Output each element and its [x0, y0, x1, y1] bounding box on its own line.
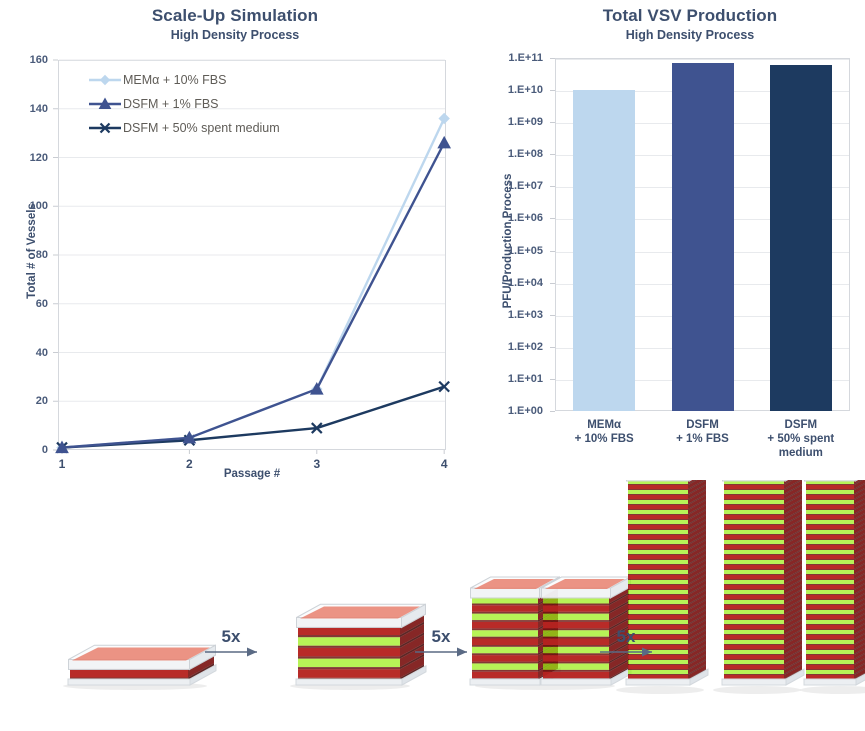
bar-chart-y-tick-mark — [550, 218, 555, 219]
line-chart-y-tick: 60 — [0, 298, 48, 310]
line-chart-x-axis-title: Passage # — [58, 468, 446, 480]
diamond-marker-icon — [88, 72, 122, 88]
legend-item: DSFM + 1% FBS — [88, 92, 280, 116]
bar-chart-y-tick: 1.E+05 — [470, 245, 543, 257]
bar-chart-y-tick-mark — [550, 283, 555, 284]
bar-chart-y-tick: 1.E+08 — [470, 148, 543, 160]
bar-chart-y-tick: 1.E+04 — [470, 277, 543, 289]
scale-arrow-1-label: 5x — [205, 628, 257, 648]
bar-chart-y-tick-mark — [550, 379, 555, 380]
legend-item: MEMα + 10% FBS — [88, 68, 280, 92]
bar-chart-y-tick: 1.E+10 — [470, 84, 543, 96]
legend-item-label: DSFM + 50% spent medium — [122, 121, 280, 135]
line-chart-y-tick: 0 — [0, 444, 48, 456]
bar-chart-plot: 1.E+001.E+011.E+021.E+031.E+041.E+051.E+… — [470, 0, 865, 480]
legend-item: DSFM + 50% spent medium — [88, 116, 280, 140]
line-chart-y-tick: 160 — [0, 54, 48, 66]
bar-chart-y-tick-mark — [550, 315, 555, 316]
cross-marker-icon — [88, 120, 122, 136]
multiplier-label: 5x — [415, 628, 467, 645]
bar-chart-y-tick-mark — [550, 90, 555, 91]
bar-chart-y-tick: 1.E+11 — [470, 52, 543, 64]
line-chart-y-tick: 120 — [0, 152, 48, 164]
bar-chart-y-tick: 1.E+02 — [470, 341, 543, 353]
bar-chart-y-tick-mark — [550, 122, 555, 123]
bar-category-label: MEMα+ 10% FBS — [549, 418, 659, 446]
line-chart-panel: Scale-Up Simulation High Density Process… — [0, 0, 470, 480]
bar-chart-y-tick: 1.E+01 — [470, 373, 543, 385]
bar-chart-y-tick-mark — [550, 251, 555, 252]
triangle-marker-icon — [88, 96, 122, 112]
bar-category-label: DSFM+ 1% FBS — [647, 418, 757, 446]
bar-chart-y-tick: 1.E+09 — [470, 116, 543, 128]
line-chart-legend: MEMα + 10% FBSDSFM + 1% FBSDSFM + 50% sp… — [88, 68, 280, 140]
bar-chart-y-tick: 1.E+07 — [470, 180, 543, 192]
bar-chart-y-tick-mark — [550, 186, 555, 187]
bar-category-label: DSFM+ 50% spentmedium — [746, 418, 856, 460]
line-chart-y-tick: 100 — [0, 200, 48, 212]
bar-chart-y-tick: 1.E+03 — [470, 309, 543, 321]
bar-chart-panel: Total VSV Production High Density Proces… — [470, 0, 865, 480]
line-chart-y-tick: 140 — [0, 103, 48, 115]
multiplier-label: 5x — [600, 628, 652, 645]
bar-chart-y-tick: 1.E+06 — [470, 212, 543, 224]
scale-arrow-3-label: 5x — [600, 628, 652, 648]
bar-chart-y-tick-mark — [550, 411, 555, 412]
scale-arrow-2-label: 5x — [415, 628, 467, 648]
multiplier-label: 5x — [205, 628, 257, 645]
line-chart-y-tick: 20 — [0, 395, 48, 407]
legend-item-label: DSFM + 1% FBS — [122, 97, 219, 111]
legend-item-label: MEMα + 10% FBS — [122, 73, 226, 87]
bar-chart-y-tick-mark — [550, 154, 555, 155]
bar-chart-y-tick: 1.E+00 — [470, 405, 543, 417]
process-flow-diagram: 5x5x5x — [0, 480, 865, 731]
line-chart-y-tick: 80 — [0, 249, 48, 261]
scale-up-figure: Scale-Up Simulation High Density Process… — [0, 0, 865, 731]
bar-chart-y-tick-mark — [550, 58, 555, 59]
line-chart-y-tick: 40 — [0, 347, 48, 359]
bar-chart-y-tick-mark — [550, 347, 555, 348]
